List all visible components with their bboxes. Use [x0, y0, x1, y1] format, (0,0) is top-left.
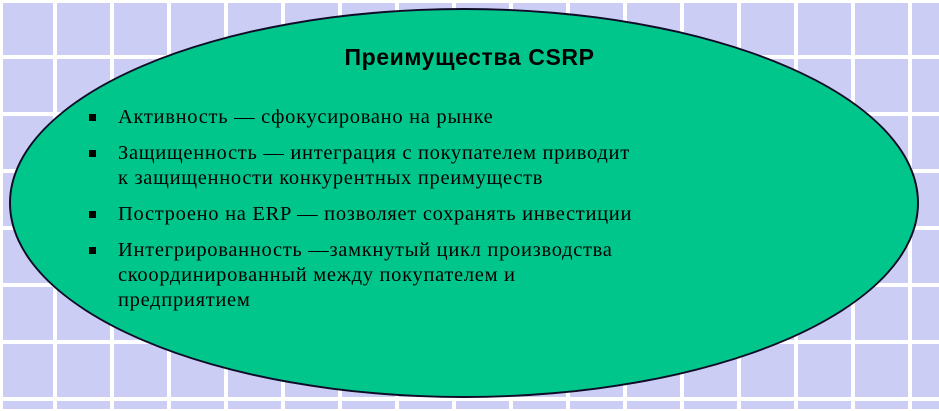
list-item: Защищенность — интеграция с покупателем … — [86, 141, 866, 191]
list-item-line: Построено на ERP — позволяет сохранять и… — [118, 202, 866, 227]
list-item: Интегрированность —замкнутый цикл произв… — [86, 238, 866, 313]
slide-title: Преимущества CSRP — [0, 44, 939, 71]
bullet-square-icon — [89, 211, 96, 218]
bullet-square-icon — [89, 247, 96, 254]
ellipse-content: Преимущества CSRP Активность — сфокусиро… — [0, 0, 939, 411]
advantages-bullet-list: Активность — сфокусировано на рынке Защи… — [86, 105, 866, 324]
list-item-line: Защищенность — интеграция с покупателем … — [118, 141, 866, 166]
list-item-line: Интегрированность —замкнутый цикл произв… — [118, 238, 866, 263]
list-item-line: Активность — сфокусировано на рынке — [118, 105, 866, 130]
list-item: Построено на ERP — позволяет сохранять и… — [86, 202, 866, 227]
list-item-line: скоординированный между покупателем и — [118, 263, 866, 288]
list-item: Активность — сфокусировано на рынке — [86, 105, 866, 130]
bullet-square-icon — [89, 150, 96, 157]
slide-canvas: Преимущества CSRP Активность — сфокусиро… — [0, 0, 939, 411]
list-item-line: предприятием — [118, 288, 866, 313]
bullet-square-icon — [89, 114, 96, 121]
list-item-line: к защищенности конкурентных преимуществ — [118, 166, 866, 191]
